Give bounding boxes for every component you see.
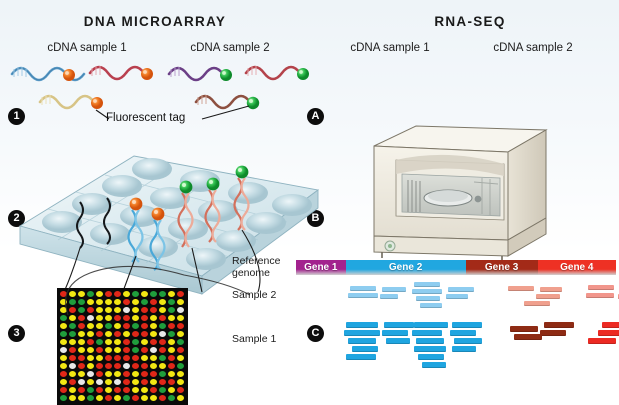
heatmap-spot — [78, 379, 85, 385]
read-fragment — [350, 286, 376, 291]
read-fragment — [540, 330, 566, 336]
heatmap-spot — [69, 363, 76, 369]
heatmap-spot — [123, 395, 130, 401]
reference-genome-text: Referencegenome — [232, 255, 280, 279]
heatmap-spot — [114, 323, 121, 329]
microarray-column-title: DNA MICROARRAY — [40, 14, 270, 29]
heatmap-spot — [141, 315, 148, 321]
heatmap-spot — [96, 363, 103, 369]
read-fragment — [346, 322, 378, 328]
heatmap-spot — [150, 395, 157, 401]
read-fragment — [510, 326, 538, 332]
heatmap-spot — [78, 307, 85, 313]
read-fragment — [352, 346, 378, 352]
heatmap-spot — [69, 339, 76, 345]
heatmap-spot — [141, 395, 148, 401]
heatmap-spot — [177, 379, 184, 385]
heatmap-spot — [150, 347, 157, 353]
heatmap-spot — [87, 331, 94, 337]
heatmap-spot — [105, 299, 112, 305]
read-fragment — [588, 285, 614, 290]
heatmap-spot — [78, 371, 85, 377]
heatmap-spot — [114, 347, 121, 353]
heatmap-spot — [69, 355, 76, 361]
heatmap-spot — [123, 387, 130, 393]
sample-2-read-track — [296, 282, 616, 314]
heatmap-spot — [150, 363, 157, 369]
heatmap-spot — [150, 355, 157, 361]
read-fragment — [380, 294, 398, 299]
heatmap-spot — [69, 307, 76, 313]
heatmap-spot — [69, 371, 76, 377]
heatmap-spot — [78, 291, 85, 297]
heatmap-spot — [60, 323, 67, 329]
heatmap-spot — [87, 291, 94, 297]
rnaseq-sample-1-label: cDNA sample 1 — [320, 42, 460, 54]
heatmap-spot — [159, 363, 166, 369]
heatmap-spot — [87, 299, 94, 305]
heatmap-spot — [87, 315, 94, 321]
heatmap-spot — [168, 371, 175, 377]
read-fragment — [346, 354, 376, 360]
heatmap-spot — [150, 307, 157, 313]
heatmap-spot — [141, 331, 148, 337]
heatmap-spot — [141, 371, 148, 377]
heatmap-spot — [105, 315, 112, 321]
heatmap-spot — [141, 363, 148, 369]
heatmap-spot — [69, 331, 76, 337]
heatmap-spot — [177, 315, 184, 321]
heatmap-spot — [105, 379, 112, 385]
gene-segment-3: Gene 3 — [466, 260, 538, 275]
heatmap-spot — [114, 299, 121, 305]
heatmap-spot — [114, 395, 121, 401]
heatmap-spot — [141, 291, 148, 297]
read-fragment — [416, 338, 444, 344]
heatmap-spot — [105, 331, 112, 337]
read-fragment — [344, 330, 380, 336]
step-badge-3: 3 — [8, 325, 25, 342]
heatmap-spot — [87, 307, 94, 313]
heatmap-spot — [87, 339, 94, 345]
heatmap-spot — [123, 347, 130, 353]
heatmap-spot — [168, 363, 175, 369]
heatmap-spot — [69, 347, 76, 353]
heatmap-spot — [60, 363, 67, 369]
heatmap-spot — [60, 347, 67, 353]
heatmap-spot — [105, 395, 112, 401]
heatmap-spot — [168, 323, 175, 329]
heatmap-spot — [159, 355, 166, 361]
heatmap-spot — [114, 331, 121, 337]
read-fragment — [536, 294, 560, 299]
heatmap-spot — [141, 307, 148, 313]
strand-s1-b — [90, 66, 153, 80]
heatmap-spot — [132, 379, 139, 385]
read-fragment — [446, 294, 468, 299]
heatmap-spot — [150, 387, 157, 393]
heatmap-spot — [114, 387, 121, 393]
heatmap-spot — [177, 387, 184, 393]
heatmap-spot — [132, 339, 139, 345]
heatmap-spot — [177, 371, 184, 377]
heatmap-spot — [78, 299, 85, 305]
sample-1-read-track — [296, 320, 616, 376]
heatmap-spot — [60, 339, 67, 345]
heatmap-spot — [141, 323, 148, 329]
heatmap-spot — [114, 315, 121, 321]
heatmap-spot — [132, 347, 139, 353]
heatmap-spot — [69, 395, 76, 401]
heatmap-spot — [78, 331, 85, 337]
heatmap-spot — [150, 315, 157, 321]
heatmap-spot — [132, 291, 139, 297]
heatmap-spot — [177, 299, 184, 305]
heatmap-spot — [132, 395, 139, 401]
heatmap-spot — [159, 315, 166, 321]
read-fragment — [524, 301, 550, 306]
heatmap-spot — [78, 363, 85, 369]
heatmap-spot — [60, 387, 67, 393]
heatmap-spot — [87, 387, 94, 393]
track-label-sample-1: Sample 1 — [232, 334, 276, 346]
heatmap-spot — [96, 331, 103, 337]
heatmap-spot — [105, 387, 112, 393]
heatmap-spot — [123, 355, 130, 361]
heatmap-spot — [123, 307, 130, 313]
heatmap-spot — [159, 291, 166, 297]
heatmap-spot — [60, 331, 67, 337]
heatmap-spot — [78, 315, 85, 321]
heatmap-spot — [123, 323, 130, 329]
heatmap-spot — [177, 363, 184, 369]
read-fragment — [586, 293, 614, 298]
heatmap-spot — [105, 307, 112, 313]
read-fragment — [452, 346, 476, 352]
heatmap-spot — [132, 323, 139, 329]
step-badge-1: 1 — [8, 108, 25, 125]
heatmap-spot — [96, 347, 103, 353]
fluorescent-tag-callout: Fluorescent tag — [106, 112, 185, 124]
rnaseq-sequencer-machine — [356, 116, 558, 262]
heatmap-spot — [114, 307, 121, 313]
heatmap-spot — [141, 355, 148, 361]
heatmap-spot — [159, 323, 166, 329]
strand-s1-c — [40, 95, 103, 109]
heatmap-spot — [168, 395, 175, 401]
heatmap-spot — [78, 387, 85, 393]
heatmap-spot — [150, 339, 157, 345]
heatmap-spot — [69, 323, 76, 329]
heatmap-spot — [159, 371, 166, 377]
heatmap-spot — [123, 315, 130, 321]
track-label-reference-genome: Referencegenome — [232, 256, 280, 279]
heatmap-spot — [123, 331, 130, 337]
microarray-heatmap — [57, 288, 188, 405]
heatmap-spot — [96, 355, 103, 361]
read-fragment — [588, 338, 616, 344]
heatmap-spot — [96, 379, 103, 385]
heatmap-spot — [150, 323, 157, 329]
heatmap-spot — [141, 347, 148, 353]
heatmap-spot — [105, 355, 112, 361]
read-fragment — [412, 289, 442, 294]
heatmap-spot — [177, 331, 184, 337]
heatmap-spot — [87, 371, 94, 377]
heatmap-spot — [105, 371, 112, 377]
heatmap-spot — [114, 355, 121, 361]
heatmap-spot — [96, 307, 103, 313]
read-fragment — [414, 322, 448, 328]
heatmap-spot — [150, 299, 157, 305]
strand-s2-b — [246, 66, 309, 80]
read-fragment — [452, 322, 482, 328]
heatmap-spot — [159, 331, 166, 337]
heatmap-spot — [87, 363, 94, 369]
heatmap-spot — [60, 355, 67, 361]
heatmap-spot — [87, 355, 94, 361]
read-fragment — [384, 322, 414, 328]
heatmap-spot — [177, 307, 184, 313]
read-fragment — [348, 338, 376, 344]
heatmap-spot — [123, 371, 130, 377]
heatmap-spot — [78, 355, 85, 361]
read-fragment — [448, 287, 474, 292]
heatmap-spot — [132, 331, 139, 337]
heatmap-spot — [132, 299, 139, 305]
heatmap-spot — [123, 363, 130, 369]
heatmap-spot — [105, 291, 112, 297]
gene-segment-4: Gene 4 — [538, 260, 616, 275]
heatmap-spot — [168, 291, 175, 297]
read-fragment — [598, 330, 619, 336]
heatmap-spot — [150, 291, 157, 297]
heatmap-spot — [150, 379, 157, 385]
strand-s2-a — [169, 67, 232, 81]
heatmap-spot — [123, 339, 130, 345]
read-fragment — [454, 338, 482, 344]
heatmap-spot — [78, 347, 85, 353]
heatmap-spot — [150, 331, 157, 337]
heatmap-spot — [96, 371, 103, 377]
read-fragment — [540, 287, 562, 292]
read-fragment — [418, 354, 444, 360]
heatmap-spot — [96, 315, 103, 321]
heatmap-spot — [123, 379, 130, 385]
heatmap-spot — [159, 339, 166, 345]
heatmap-spot — [114, 339, 121, 345]
heatmap-spot — [141, 339, 148, 345]
heatmap-spot — [177, 395, 184, 401]
heatmap-spot — [60, 371, 67, 377]
heatmap-spot — [60, 379, 67, 385]
heatmap-spot — [96, 387, 103, 393]
heatmap-spot — [168, 347, 175, 353]
heatmap-spot — [132, 307, 139, 313]
read-fragment — [414, 282, 440, 287]
step-badge-a: A — [307, 108, 324, 125]
heatmap-spot — [177, 291, 184, 297]
microarray-cdna-strands — [6, 58, 306, 116]
heatmap-spot — [60, 299, 67, 305]
heatmap-spot — [69, 387, 76, 393]
heatmap-spot — [177, 347, 184, 353]
track-label-sample-2: Sample 2 — [232, 290, 276, 302]
heatmap-spot — [132, 363, 139, 369]
heatmap-spot — [96, 395, 103, 401]
heatmap-spot — [105, 339, 112, 345]
heatmap-spot — [168, 307, 175, 313]
heatmap-spot — [87, 347, 94, 353]
read-fragment — [508, 286, 534, 291]
heatmap-spot — [69, 315, 76, 321]
heatmap-spot — [168, 387, 175, 393]
heatmap-spot — [159, 299, 166, 305]
heatmap-spot — [87, 395, 94, 401]
heatmap-spot — [69, 299, 76, 305]
read-fragment — [420, 303, 442, 308]
microarray-sample-2-label: cDNA sample 2 — [160, 42, 300, 54]
heatmap-spot — [114, 291, 121, 297]
heatmap-spot — [96, 323, 103, 329]
heatmap-spot — [105, 363, 112, 369]
heatmap-spot — [177, 355, 184, 361]
heatmap-spot — [87, 323, 94, 329]
read-fragment — [382, 330, 408, 336]
heatmap-spot — [141, 387, 148, 393]
heatmap-spot — [168, 379, 175, 385]
heatmap-spot — [168, 331, 175, 337]
heatmap-spot — [60, 315, 67, 321]
heatmap-spot — [132, 371, 139, 377]
heatmap-spot — [123, 291, 130, 297]
heatmap-spot — [105, 323, 112, 329]
heatmap-spot — [96, 299, 103, 305]
heatmap-spot — [60, 395, 67, 401]
heatmap-spot — [159, 387, 166, 393]
reference-genome-gene-bar: Gene 1Gene 2Gene 3Gene 4 — [296, 260, 616, 275]
read-fragment — [348, 293, 378, 298]
heatmap-spot — [159, 395, 166, 401]
heatmap-spot — [114, 371, 121, 377]
heatmap-spot — [177, 339, 184, 345]
heatmap-spot — [159, 307, 166, 313]
read-fragment — [422, 362, 446, 368]
heatmap-spot — [78, 395, 85, 401]
heatmap-spot — [159, 379, 166, 385]
heatmap-spot — [105, 347, 112, 353]
read-fragment — [416, 296, 440, 301]
heatmap-spot — [132, 355, 139, 361]
heatmap-spot — [168, 339, 175, 345]
rnaseq-sample-2-label: cDNA sample 2 — [463, 42, 603, 54]
heatmap-spot — [123, 299, 130, 305]
read-fragment — [386, 338, 410, 344]
heatmap-spot — [132, 387, 139, 393]
read-fragment — [544, 322, 574, 328]
heatmap-spot — [96, 291, 103, 297]
microarray-sample-1-label: cDNA sample 1 — [17, 42, 157, 54]
rnaseq-column-title: RNA-SEQ — [380, 14, 560, 29]
heatmap-spot — [114, 363, 121, 369]
heatmap-spot — [78, 339, 85, 345]
read-fragment — [382, 287, 406, 292]
heatmap-spot — [150, 371, 157, 377]
read-fragment — [450, 330, 476, 336]
heatmap-spot — [60, 307, 67, 313]
heatmap-spot — [141, 379, 148, 385]
heatmap-spot — [159, 347, 166, 353]
read-fragment — [412, 330, 442, 336]
heatmap-spot — [87, 379, 94, 385]
heatmap-spot — [78, 323, 85, 329]
heatmap-spot — [168, 355, 175, 361]
strand-s1-a — [12, 67, 84, 81]
heatmap-spot — [69, 291, 76, 297]
read-fragment — [414, 346, 446, 352]
heatmap-spot — [132, 315, 139, 321]
read-fragment — [602, 322, 619, 328]
heatmap-spot — [141, 299, 148, 305]
heatmap-spot — [114, 379, 121, 385]
heatmap-spot — [96, 339, 103, 345]
read-fragment — [514, 334, 542, 340]
figure-root: DNA MICROARRAY RNA-SEQ cDNA sample 1 cDN… — [0, 0, 619, 404]
heatmap-spot — [60, 291, 67, 297]
heatmap-spot — [168, 315, 175, 321]
gene-segment-1: Gene 1 — [296, 260, 346, 275]
heatmap-spot — [177, 323, 184, 329]
heatmap-spot — [69, 379, 76, 385]
heatmap-spot — [168, 299, 175, 305]
gene-segment-2: Gene 2 — [346, 260, 466, 275]
strand-s2-c — [196, 95, 259, 109]
